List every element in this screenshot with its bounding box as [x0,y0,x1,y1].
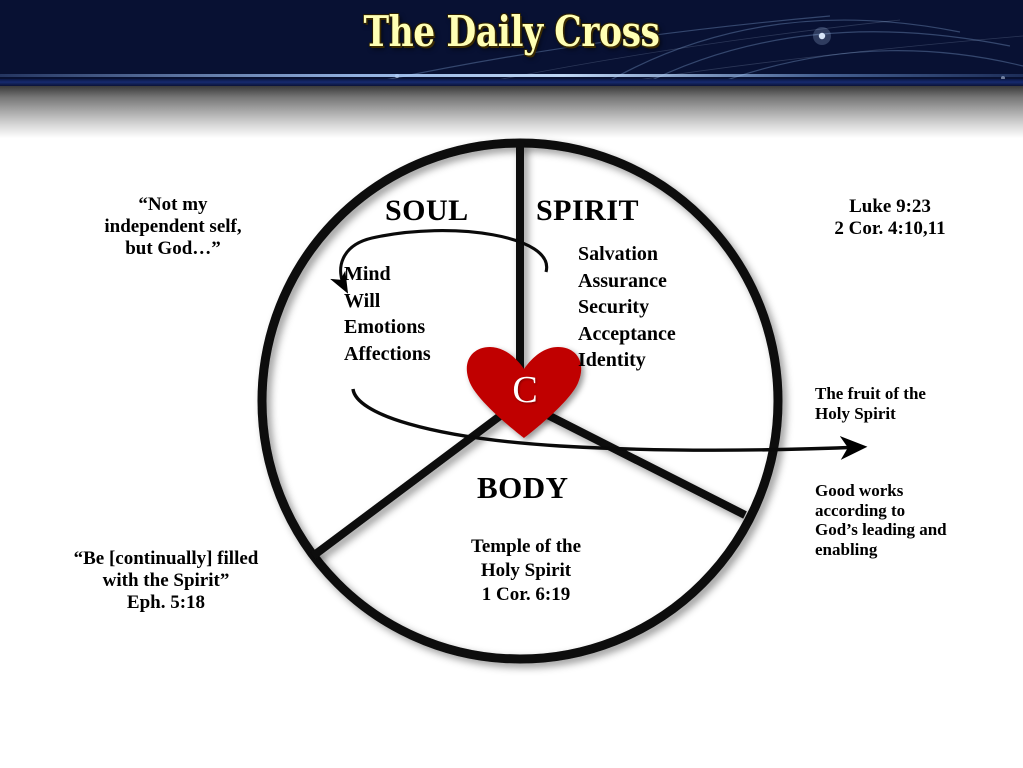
body-subtitle: Temple of the Holy Spirit 1 Cor. 6:19 [420,535,632,607]
annotation-bottom-left-quote: “Be [continually] filled with the Spirit… [16,548,316,614]
annotation-fruit-of-the-spirit: The fruit of the Holy Spirit [815,384,1015,423]
section-label-soul: SOUL [385,194,469,228]
spirit-attribute-list: Salvation Assurance Security Acceptance … [578,241,676,374]
annotation-good-works: Good works according to God’s leading an… [815,481,1020,560]
soul-attribute-list: Mind Will Emotions Affections [344,261,431,367]
heart-center-letter: C [497,368,553,412]
section-label-spirit: SPIRIT [536,194,639,228]
annotation-top-right-references: Luke 9:23 2 Cor. 4:10,11 [762,196,1018,240]
annotation-top-left-quote: “Not my independent self, but God…” [38,194,308,260]
trichotomy-diagram: C SOUL SPIRIT BODY Mind Will Emotions Af… [0,0,1023,768]
section-label-body: BODY [477,470,569,506]
